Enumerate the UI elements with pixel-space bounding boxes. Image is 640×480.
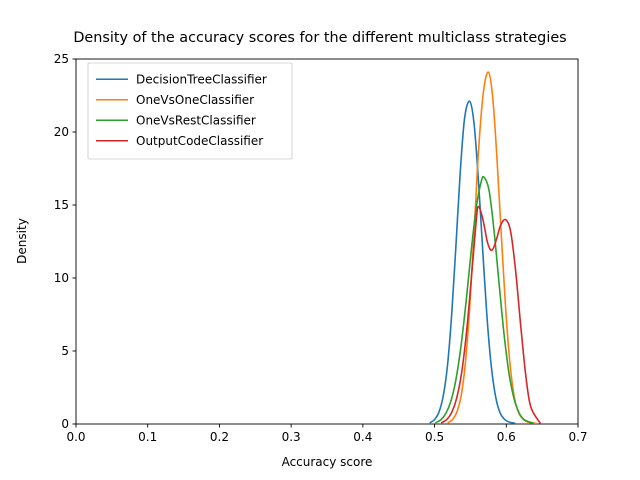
figure-canvas: Density of the accuracy scores for the d… [0,0,640,480]
x-tick-label: 0.5 [425,430,444,444]
legend-item-label[interactable]: OneVsRestClassifier [136,113,256,127]
x-tick-label: 0.1 [138,430,157,444]
legend-item-label[interactable]: OneVsOneClassifier [136,93,254,107]
x-tick-label: 0.0 [66,430,85,444]
x-tick-label: 0.2 [210,430,229,444]
y-axis-ticks: 0510152025 [54,52,76,431]
y-tick-label: 20 [54,125,69,139]
x-tick-label: 0.6 [497,430,516,444]
y-axis-label: Density [15,218,29,264]
y-tick-label: 5 [61,344,69,358]
y-tick-label: 15 [54,198,69,212]
x-tick-label: 0.7 [568,430,587,444]
x-axis-ticks: 0.00.10.20.30.40.50.60.7 [66,424,587,444]
legend[interactable]: DecisionTreeClassifierOneVsOneClassifier… [88,63,292,159]
x-tick-label: 0.3 [282,430,301,444]
y-tick-label: 10 [54,271,69,285]
x-axis-label: Accuracy score [282,455,373,469]
plot-svg: 0.00.10.20.30.40.50.60.7 0510152025 Accu… [0,0,640,480]
legend-item-label[interactable]: DecisionTreeClassifier [136,72,267,86]
y-tick-label: 25 [54,52,69,66]
legend-item-label[interactable]: OutputCodeClassifier [136,134,263,148]
y-tick-label: 0 [61,417,69,431]
x-tick-label: 0.4 [353,430,372,444]
